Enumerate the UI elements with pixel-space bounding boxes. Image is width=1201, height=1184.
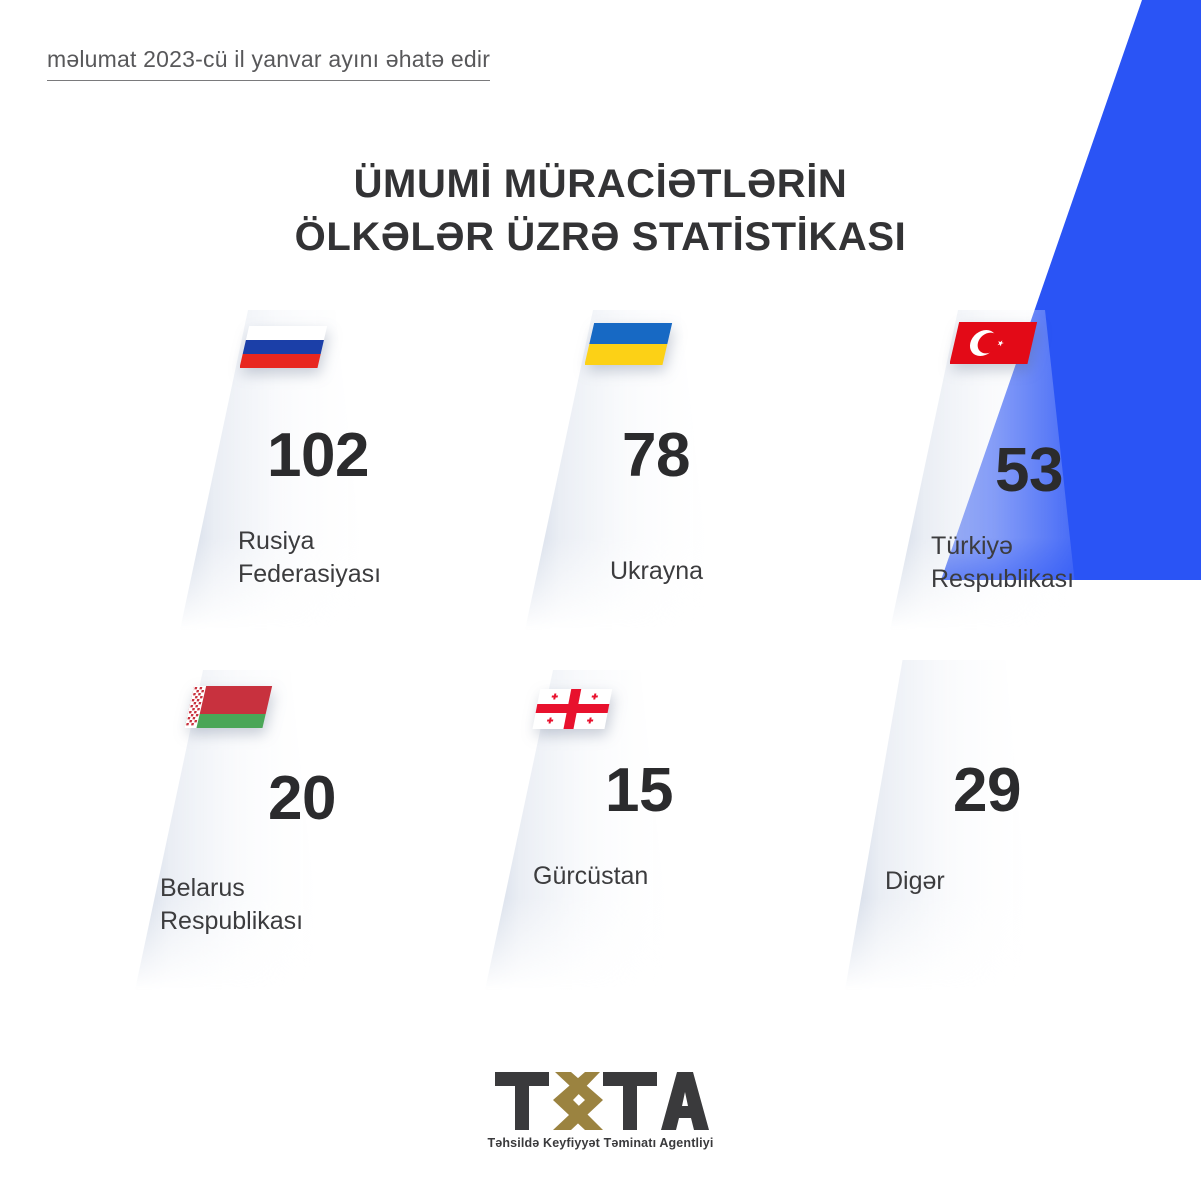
stat-caption: Belarus Respublikası: [160, 872, 303, 939]
stat-caption: Digər: [885, 865, 945, 898]
stat-value: 29: [953, 760, 1021, 822]
logo-wordmark: [0, 1070, 1201, 1132]
stat-caption: Ukrayna: [610, 555, 703, 588]
stat-value: 15: [605, 760, 673, 822]
flag-georgia-icon: [530, 680, 626, 738]
stat-value: 78: [622, 425, 690, 487]
page-title-line-1: ÜMUMİ MÜRACİƏTLƏRİN: [0, 158, 1201, 211]
flag-belarus-icon: [185, 678, 281, 736]
logo-letters: [493, 1070, 709, 1132]
flag-ukraine-icon: [585, 315, 681, 373]
stat-card-turkiye: 53 Türkiyə Respublikası: [865, 300, 1115, 650]
stat-value: 102: [267, 425, 369, 487]
strapline: məlumat 2023-cü il yanvar ayını əhatə ed…: [47, 46, 490, 81]
flag-turkey-icon: [950, 314, 1046, 372]
logo-subtitle: Təhsildə Keyfiyyət Təminatı Agentliyi: [0, 1136, 1201, 1150]
flag-russia-icon: [240, 318, 336, 376]
light-beam: [820, 660, 1070, 990]
tkta-logo: Təhsildə Keyfiyyət Təminatı Agentliyi: [0, 1070, 1201, 1150]
stat-card-other: 29 Digər: [820, 660, 1070, 1010]
page-title: ÜMUMİ MÜRACİƏTLƏRİN ÖLKƏLƏR ÜZRƏ STATİST…: [0, 158, 1201, 264]
stat-caption: Gürcüstan: [533, 860, 648, 893]
stat-caption: Türkiyə Respublikası: [931, 530, 1074, 597]
stat-card-georgia: 15 Gürcüstan: [460, 660, 710, 1010]
stat-value: 20: [268, 768, 336, 830]
stat-card-belarus: 20 Belarus Respublikası: [110, 660, 360, 1010]
page-title-line-2: ÖLKƏLƏR ÜZRƏ STATİSTİKASI: [0, 211, 1201, 264]
stat-card-ukraine: 78 Ukrayna: [500, 300, 750, 650]
stat-value: 53: [995, 440, 1063, 502]
stat-caption: Rusiya Federasiyası: [238, 525, 381, 592]
stat-card-russia: 102 Rusiya Federasiyası: [155, 300, 405, 650]
statistics-grid: 102 Rusiya Federasiyası: [0, 300, 1201, 1000]
